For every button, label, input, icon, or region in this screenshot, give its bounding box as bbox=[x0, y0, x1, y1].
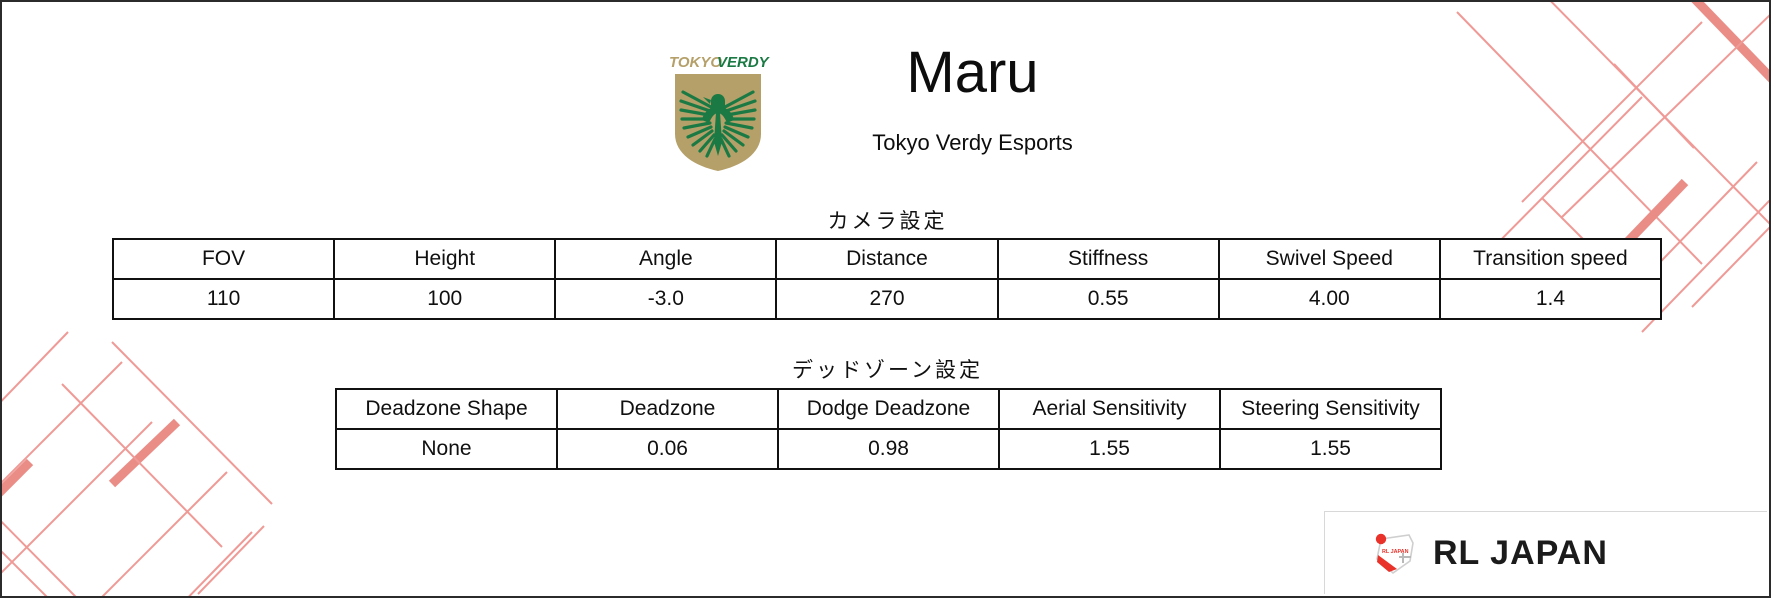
deadzone-section-caption: デッドゾーン設定 bbox=[2, 354, 1771, 384]
rl-japan-label: RL JAPAN bbox=[1433, 534, 1608, 573]
value-swivel-speed: 4.00 bbox=[1219, 279, 1440, 319]
column-header-fov: FOV bbox=[113, 239, 334, 279]
rl-japan-mark-icon: RL JAPAN bbox=[1369, 529, 1421, 577]
team-crest: TOKYO VERDY bbox=[653, 50, 783, 172]
value-distance: 270 bbox=[776, 279, 997, 319]
value-deadzone-shape: None bbox=[336, 429, 557, 469]
value-steering-sensitivity: 1.55 bbox=[1220, 429, 1441, 469]
svg-text:RL JAPAN: RL JAPAN bbox=[1382, 549, 1409, 555]
value-stiffness: 0.55 bbox=[998, 279, 1219, 319]
table-row: 110 100 -3.0 270 0.55 4.00 1.4 bbox=[113, 279, 1661, 319]
value-height: 100 bbox=[334, 279, 555, 319]
column-header-deadzone-shape: Deadzone Shape bbox=[336, 389, 557, 429]
value-aerial-sensitivity: 1.55 bbox=[999, 429, 1220, 469]
column-header-aerial-sensitivity: Aerial Sensitivity bbox=[999, 389, 1220, 429]
column-header-distance: Distance bbox=[776, 239, 997, 279]
slide-header: TOKYO VERDY bbox=[2, 42, 1771, 172]
value-deadzone: 0.06 bbox=[557, 429, 778, 469]
table-header-row: Deadzone Shape Deadzone Dodge Deadzone A… bbox=[336, 389, 1441, 429]
column-header-dodge-deadzone: Dodge Deadzone bbox=[778, 389, 999, 429]
column-header-steering-sensitivity: Steering Sensitivity bbox=[1220, 389, 1441, 429]
deadzone-settings-table: Deadzone Shape Deadzone Dodge Deadzone A… bbox=[335, 388, 1442, 470]
value-dodge-deadzone: 0.98 bbox=[778, 429, 999, 469]
title-block: Maru Tokyo Verdy Esports bbox=[823, 42, 1123, 156]
column-header-stiffness: Stiffness bbox=[998, 239, 1219, 279]
table-header-row: FOV Height Angle Distance Stiffness Swiv… bbox=[113, 239, 1661, 279]
column-header-angle: Angle bbox=[555, 239, 776, 279]
column-header-height: Height bbox=[334, 239, 555, 279]
crest-wordmark-verdy: VERDY bbox=[717, 54, 771, 71]
crest-wordmark-tokyo: TOKYO bbox=[669, 54, 722, 71]
slide-canvas: TOKYO VERDY bbox=[0, 0, 1771, 598]
camera-section-caption: カメラ設定 bbox=[2, 205, 1771, 235]
column-header-deadzone: Deadzone bbox=[557, 389, 778, 429]
table-row: None 0.06 0.98 1.55 1.55 bbox=[336, 429, 1441, 469]
player-name: Maru bbox=[823, 42, 1123, 104]
value-transition-speed: 1.4 bbox=[1440, 279, 1661, 319]
team-name: Tokyo Verdy Esports bbox=[823, 130, 1123, 156]
column-header-transition-speed: Transition speed bbox=[1440, 239, 1661, 279]
column-header-swivel-speed: Swivel Speed bbox=[1219, 239, 1440, 279]
value-fov: 110 bbox=[113, 279, 334, 319]
camera-settings-table: FOV Height Angle Distance Stiffness Swiv… bbox=[112, 238, 1662, 320]
value-angle: -3.0 bbox=[555, 279, 776, 319]
rl-japan-badge: RL JAPAN RL JAPAN bbox=[1324, 511, 1767, 594]
